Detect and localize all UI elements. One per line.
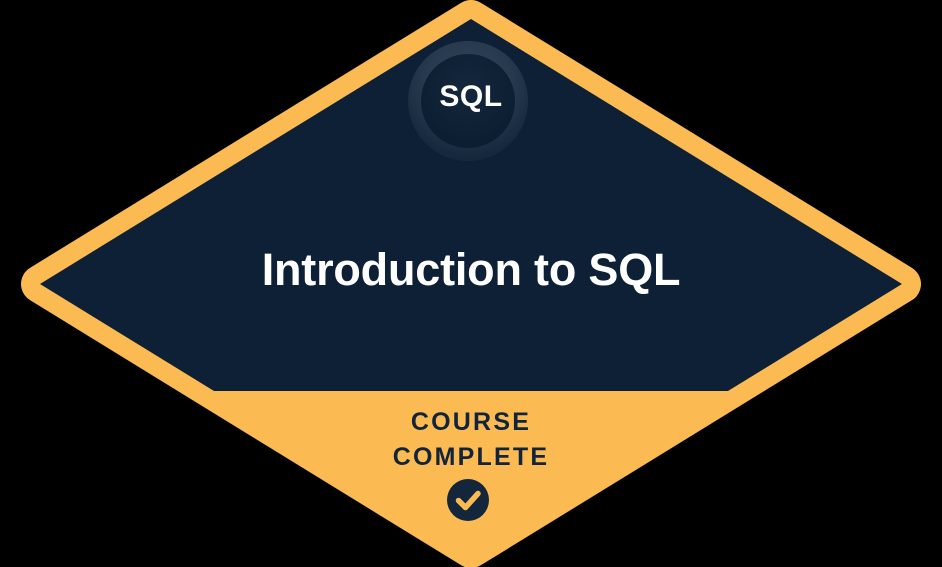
badge-shape (0, 0, 942, 567)
sql-chip-ring-inner-edge (421, 54, 515, 148)
check-circle-icon (447, 479, 489, 521)
course-completion-badge: SQL Introduction to SQL COURSE COMPLETE (0, 0, 942, 567)
